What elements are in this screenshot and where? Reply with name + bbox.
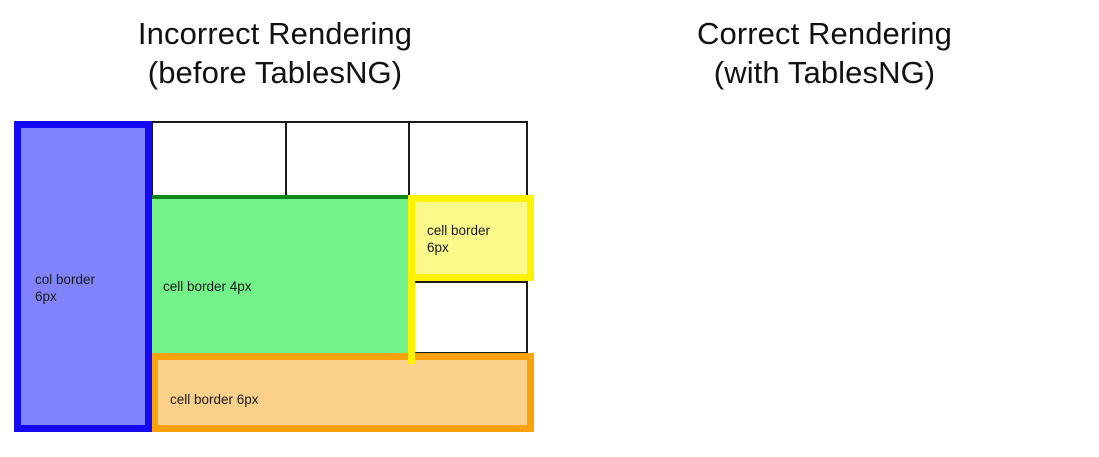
green-cell-label: cell border 4px bbox=[163, 278, 252, 295]
panel-title-correct: Correct Rendering (with TablesNG) bbox=[550, 14, 1099, 92]
yellow-cell-border-6px: cell border 6px bbox=[408, 195, 534, 281]
header-cell-2 bbox=[285, 121, 410, 197]
blue-column-border-6px: col border 6px bbox=[14, 121, 152, 432]
table-grid-incorrect: cell border 4px cell border 6px cell bor… bbox=[14, 121, 528, 432]
green-cell-border-4px: cell border 4px bbox=[151, 195, 410, 354]
orange-cell-label: cell border 6px bbox=[170, 391, 259, 408]
table-incorrect: cell border 4px cell border 6px cell bor… bbox=[14, 121, 528, 432]
orange-cell-border-6px: cell border 6px bbox=[151, 353, 534, 432]
header-cell-3 bbox=[408, 121, 528, 197]
yellow-border-overhang-artifact bbox=[408, 277, 415, 364]
panel-incorrect-rendering: Incorrect Rendering (before TablesNG) ce… bbox=[0, 0, 550, 457]
header-cell-1 bbox=[151, 121, 287, 197]
blue-column-label: col border 6px bbox=[35, 271, 95, 305]
panel-correct-rendering: Correct Rendering (with TablesNG) cell b… bbox=[550, 0, 1099, 457]
panel-title-incorrect: Incorrect Rendering (before TablesNG) bbox=[0, 14, 550, 92]
yellow-cell-label: cell border 6px bbox=[427, 222, 490, 256]
empty-cell-under-yellow bbox=[408, 281, 528, 354]
